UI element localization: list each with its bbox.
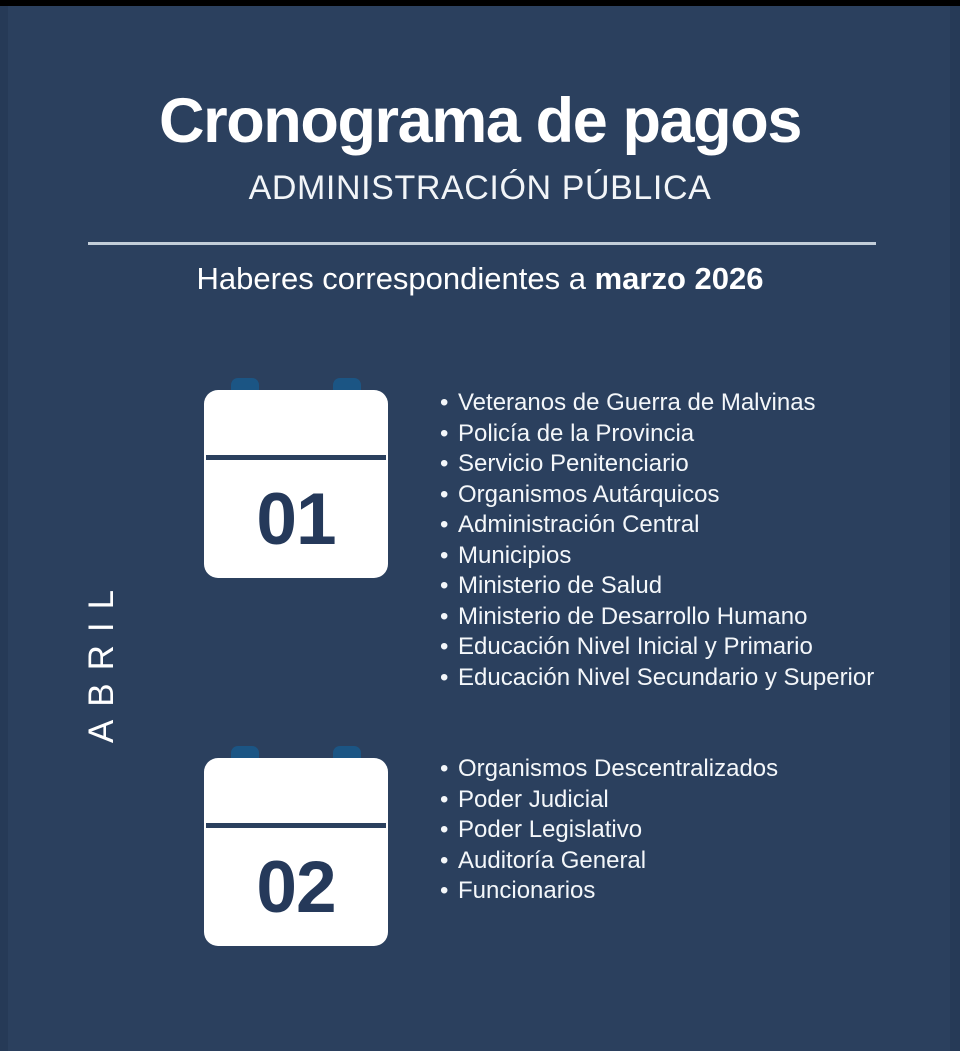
calendar-icon: 01: [204, 378, 388, 578]
calendar-day-number: 01: [204, 460, 388, 578]
page-subtitle: ADMINISTRACIÓN PÚBLICA: [0, 168, 960, 208]
list-item: Ministerio de Desarrollo Humano: [440, 602, 874, 633]
list-item: Municipios: [440, 541, 874, 572]
list-item: Educación Nivel Secundario y Superior: [440, 663, 874, 694]
header-divider: [88, 242, 876, 245]
list-item: Servicio Penitenciario: [440, 449, 874, 480]
payment-schedule-poster: Cronograma de pagos ADMINISTRACIÓN PÚBLI…: [0, 0, 960, 1051]
page-title: Cronograma de pagos: [0, 86, 960, 156]
top-letterbox-strip: [0, 0, 960, 6]
schedule-block: 01 Veteranos de Guerra de Malvinas Polic…: [0, 378, 960, 588]
list-item: Veteranos de Guerra de Malvinas: [440, 388, 874, 419]
calendar-body: 02: [204, 758, 388, 946]
header: Cronograma de pagos ADMINISTRACIÓN PÚBLI…: [0, 86, 960, 208]
list-item: Organismos Descentralizados: [440, 754, 778, 785]
payment-group-list: Organismos Descentralizados Poder Judici…: [440, 754, 778, 907]
list-item: Funcionarios: [440, 876, 778, 907]
schedule-block: 02 Organismos Descentralizados Poder Jud…: [0, 746, 960, 956]
list-item: Educación Nivel Inicial y Primario: [440, 632, 874, 663]
list-item: Administración Central: [440, 510, 874, 541]
period-line: Haberes correspondientes a marzo 2026: [0, 258, 960, 300]
month-label: ABRIL: [82, 577, 122, 743]
payment-group-list: Veteranos de Guerra de Malvinas Policía …: [440, 388, 874, 693]
period-prefix: Haberes correspondientes a: [197, 261, 595, 296]
period-month-year: marzo 2026: [595, 261, 764, 296]
list-item: Poder Judicial: [440, 785, 778, 816]
list-item: Policía de la Provincia: [440, 419, 874, 450]
list-item: Auditoría General: [440, 846, 778, 877]
list-item: Ministerio de Salud: [440, 571, 874, 602]
calendar-icon: 02: [204, 746, 388, 946]
list-item: Organismos Autárquicos: [440, 480, 874, 511]
calendar-day-number: 02: [204, 828, 388, 946]
calendar-body: 01: [204, 390, 388, 578]
list-item: Poder Legislativo: [440, 815, 778, 846]
